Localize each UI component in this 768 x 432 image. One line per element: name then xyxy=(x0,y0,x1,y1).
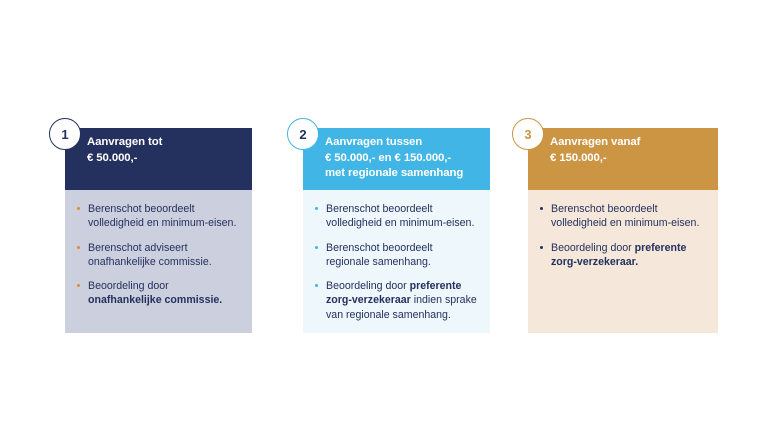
list-item-text: Berenschot beoordeelt volledigheid en mi… xyxy=(88,203,236,229)
list-item-text: Beoordeling door xyxy=(88,280,169,292)
card-2-body: Berenschot beoordeelt volledigheid en mi… xyxy=(303,190,490,333)
list-item: Beoordeling door preferente zorg-verzeke… xyxy=(313,279,478,322)
step-badge-2: 2 xyxy=(287,118,319,150)
card-aanvragen-tussen-50000-150000: Aanvragen tussen € 50.000,- en € 150.000… xyxy=(303,128,490,333)
card-3-title-line-1: Aanvragen vanaf xyxy=(550,135,708,151)
slide-canvas: Aanvragen tot € 50.000,- Berenschot beoo… xyxy=(0,0,768,432)
card-1-title-line-1: Aanvragen tot xyxy=(87,135,242,151)
list-item: Berenschot beoordeelt volledigheid en mi… xyxy=(313,202,478,231)
list-item: Beoordeling door onafhankelijke commissi… xyxy=(75,279,240,308)
list-item-text: Berenschot beoordeelt volledigheid en mi… xyxy=(551,203,699,229)
list-item-text: Berenschot beoordeelt regionale samenhan… xyxy=(326,242,433,268)
list-item: Beoordeling door preferente zorg-verzeke… xyxy=(538,241,706,270)
card-2-title-line-3: met regionale samenhang xyxy=(325,166,480,182)
bullet-dot-icon xyxy=(77,246,80,249)
card-2-bullet-list: Berenschot beoordeelt volledigheid en mi… xyxy=(313,202,478,322)
step-badge-3: 3 xyxy=(512,118,544,150)
card-1-header: Aanvragen tot € 50.000,- xyxy=(65,128,252,190)
bullet-dot-icon xyxy=(77,284,80,287)
card-2-title-line-2: € 50.000,- en € 150.000,- xyxy=(325,151,480,167)
list-item: Berenschot beoordeelt volledigheid en mi… xyxy=(538,202,706,231)
bullet-dot-icon xyxy=(77,207,80,210)
step-badge-1: 1 xyxy=(49,118,81,150)
list-item: Berenschot beoordeelt volledigheid en mi… xyxy=(75,202,240,231)
card-1-body: Berenschot beoordeelt volledigheid en mi… xyxy=(65,190,252,333)
list-item-text: Beoordeling door xyxy=(326,280,410,292)
card-1-bullet-list: Berenschot beoordeelt volledigheid en mi… xyxy=(75,202,240,308)
card-3-title-line-2: € 150.000,- xyxy=(550,151,708,167)
card-aanvragen-vanaf-150000: Aanvragen vanaf € 150.000,- Berenschot b… xyxy=(528,128,718,333)
card-2-header: Aanvragen tussen € 50.000,- en € 150.000… xyxy=(303,128,490,190)
list-item-text: Beoordeling door xyxy=(551,242,635,254)
bullet-dot-icon xyxy=(315,246,318,249)
bullet-dot-icon xyxy=(315,284,318,287)
card-3-body: Berenschot beoordeelt volledigheid en mi… xyxy=(528,190,718,333)
list-item-text: Berenschot adviseert onafhankelijke comm… xyxy=(88,242,212,268)
list-item: Berenschot beoordeelt regionale samenhan… xyxy=(313,241,478,270)
bullet-dot-icon xyxy=(540,207,543,210)
card-3-bullet-list: Berenschot beoordeelt volledigheid en mi… xyxy=(538,202,706,269)
list-item-bold: onafhankelijke commissie. xyxy=(88,294,222,306)
card-2-title-line-1: Aanvragen tussen xyxy=(325,135,480,151)
bullet-dot-icon xyxy=(315,207,318,210)
list-item: Berenschot adviseert onafhankelijke comm… xyxy=(75,241,240,270)
card-3-header: Aanvragen vanaf € 150.000,- xyxy=(528,128,718,190)
list-item-text: Berenschot beoordeelt volledigheid en mi… xyxy=(326,203,474,229)
bullet-dot-icon xyxy=(540,246,543,249)
card-aanvragen-tot-50000: Aanvragen tot € 50.000,- Berenschot beoo… xyxy=(65,128,252,333)
card-1-title-line-2: € 50.000,- xyxy=(87,151,242,167)
